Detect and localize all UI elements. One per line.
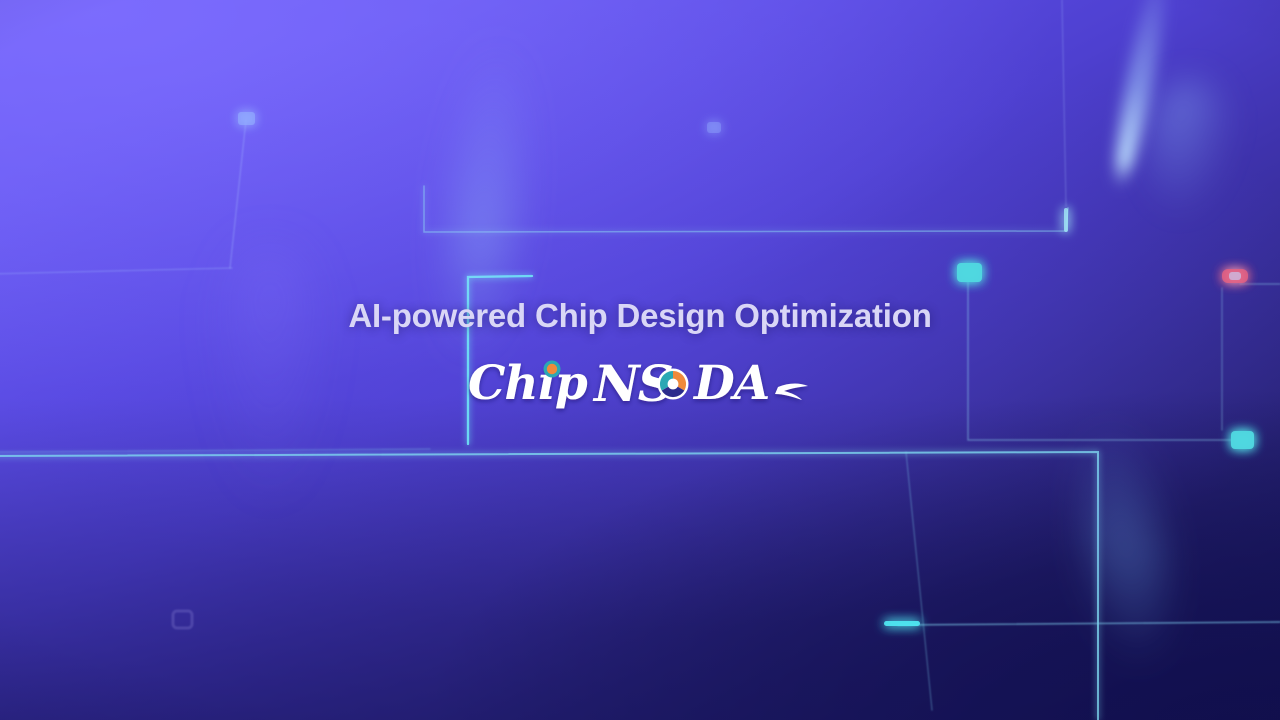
trace-bottom-left-faint [0, 449, 430, 452]
trace-top-right-vert [1062, 0, 1066, 206]
trace-long-horizontal [0, 452, 1098, 720]
trace-bottom-frame [898, 622, 1280, 625]
trace-upper-frame [424, 186, 1068, 232]
brand-logo: Ch ip NS DA [466, 353, 814, 419]
pad-right-lower [1231, 431, 1254, 449]
logo-dot-icon [544, 360, 561, 377]
dash-upper-right [1064, 208, 1068, 232]
title-card-scene: AI-powered Chip Design Optimization Ch i… [0, 0, 1280, 720]
logo-swoosh-icon [775, 383, 808, 400]
trace-left-elbow [0, 268, 232, 274]
svg-text:Ch: Ch [468, 356, 538, 411]
pad-top-left [238, 112, 255, 125]
logo-pie-icon [658, 368, 689, 399]
tagline: AI-powered Chip Design Optimization [0, 296, 1280, 336]
dash-bottom-cyan [884, 621, 920, 626]
title-block: AI-powered Chip Design Optimization Ch i… [0, 296, 1280, 424]
pad-top-center [707, 122, 721, 133]
trace-left-vertical [230, 120, 246, 268]
pad-bottom-left [173, 611, 192, 628]
logo-wordmark: Ch ip NS DA [468, 354, 769, 413]
svg-text:DA: DA [692, 356, 769, 411]
pad-mid-right [957, 263, 982, 282]
trace-bottom-diag [906, 452, 932, 710]
pad-pink-right [1222, 269, 1248, 283]
